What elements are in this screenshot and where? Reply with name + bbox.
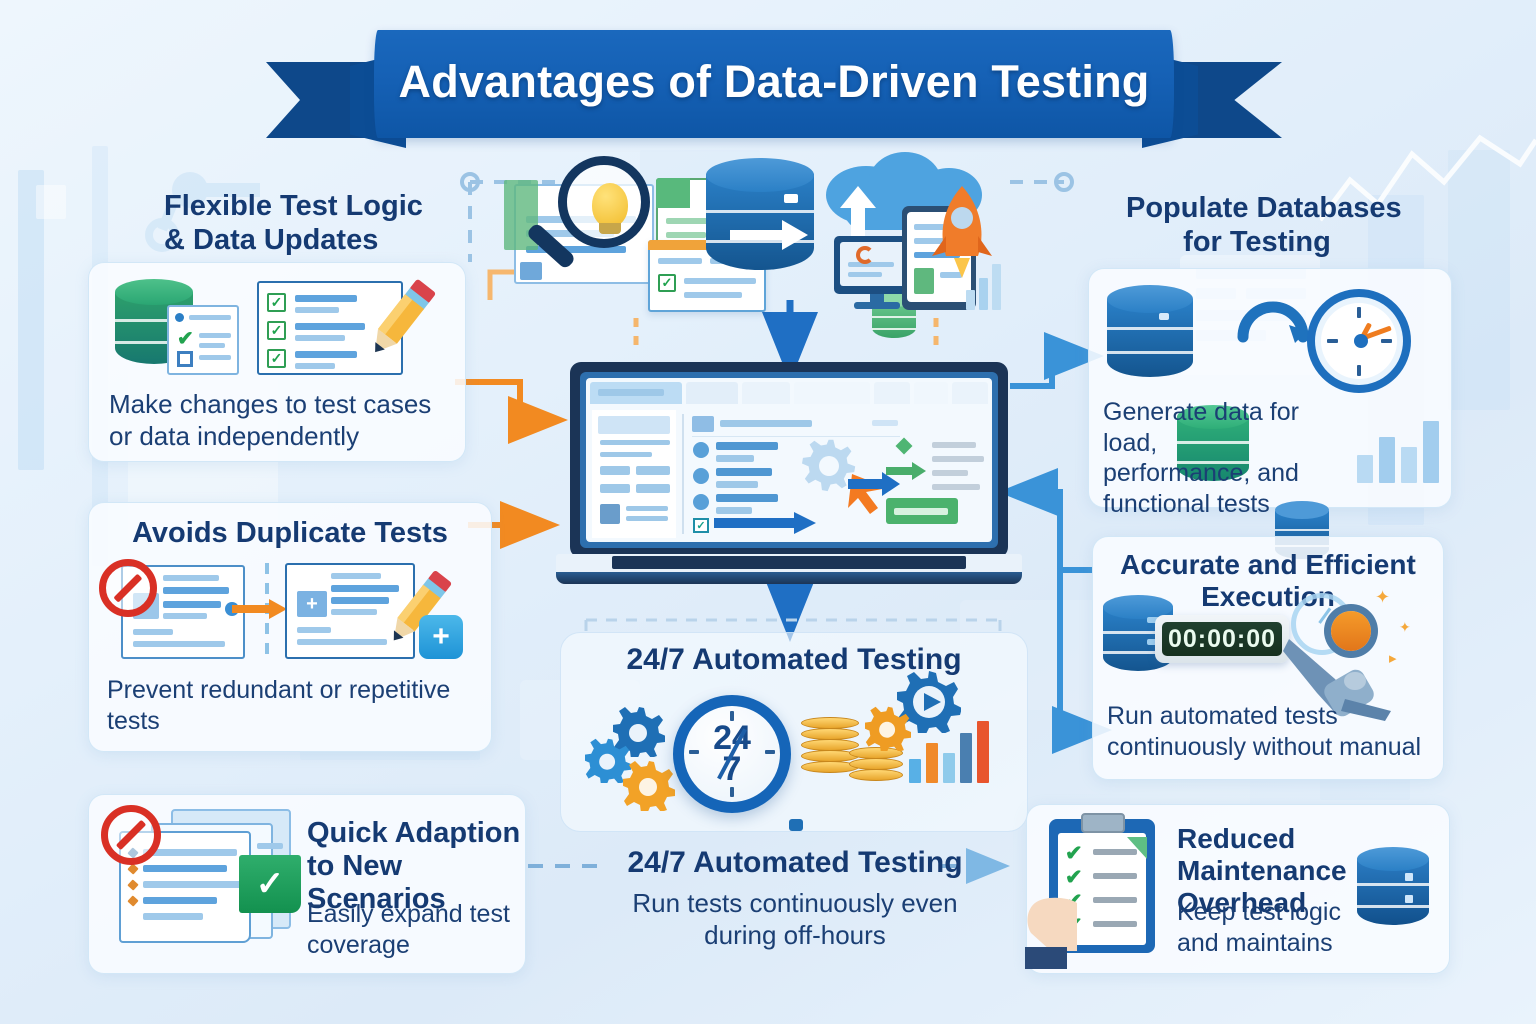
card-body-accurate-efficient: Run automated tests continuously without… — [1107, 701, 1447, 762]
prohibition-icon — [101, 805, 161, 865]
pencil-icon — [359, 273, 443, 365]
page-title: Advantages of Data-Driven Testing — [399, 56, 1150, 108]
card-heading-flexible-test-logic: Flexible Test Logic & Data Updates — [164, 190, 464, 257]
document-card-icon: ✔ — [167, 305, 239, 375]
sparkle-icon: ✦ — [1399, 619, 1411, 636]
prohibition-icon — [99, 559, 157, 617]
card-body-populate-databases: Generate data for load, performance, and… — [1103, 397, 1353, 519]
card-flexible-test-logic[interactable]: ✔ ✓ ✓ ✓ Make changes to test cases or da… — [88, 262, 466, 462]
card-heading-avoids-duplicate-tests: Avoids Duplicate Tests — [89, 517, 491, 550]
add-plus-icon: + — [419, 615, 463, 659]
bar-chart-icon — [966, 254, 1001, 310]
database-icon — [1107, 285, 1193, 383]
magnifier-lightbulb-icon — [558, 156, 650, 248]
card-body-avoids-duplicate-tests: Prevent redundant or repetitive tests — [107, 675, 483, 736]
laptop-illustration: ✓ — [556, 362, 1022, 598]
card-populate-databases[interactable]: Generate data for load, performance, and… — [1088, 268, 1452, 508]
refresh-arc-icon — [1237, 297, 1309, 343]
card-24-7-automated-testing[interactable]: 24/7 Automated Testing 24 7 — [560, 632, 1028, 832]
hand-icon — [1025, 873, 1091, 969]
top-illustration-cluster: ✓ — [496, 150, 1008, 310]
card-body-reduced-maintenance: Keep test logic and maintains — [1177, 897, 1341, 958]
gear-icon — [623, 759, 675, 811]
bar-chart-icon — [1357, 419, 1439, 483]
bar-chart-icon — [909, 721, 989, 783]
card-body-flexible-test-logic: Make changes to test cases or data indep… — [109, 389, 453, 452]
connector-node — [789, 819, 803, 831]
card-body-quick-adaption: Easily expand test coverage — [307, 899, 510, 960]
footer-body: Run tests continuously even during off-h… — [560, 888, 1030, 951]
timer-display-icon: 00:00:00 — [1155, 615, 1289, 663]
gear-icon — [865, 705, 911, 751]
sparkle-icon: ▸ — [1389, 649, 1397, 667]
footer-24-7-automated-testing: 24/7 Automated Testing Run tests continu… — [560, 846, 1030, 952]
arrow-right-icon — [225, 599, 287, 619]
banner-body: Advantages of Data-Driven Testing — [374, 30, 1174, 138]
banner: Advantages of Data-Driven Testing — [266, 26, 1282, 148]
green-check-icon: ✓ — [239, 855, 301, 913]
card-reduced-maintenance[interactable]: ✔ ✔ ✔ ✔ Reduced Maintenance Overhead Kee… — [1026, 804, 1450, 974]
card-heading-populate-databases: Populate Databases for Testing — [1126, 192, 1456, 259]
card-quick-adaption[interactable]: ✓ Quick Adaption to New Scenarios Easily… — [88, 794, 526, 974]
clock-247-icon: 24 7 — [673, 695, 791, 813]
card-avoids-duplicate-tests[interactable]: Avoids Duplicate Tests + — [88, 502, 492, 752]
card-accurate-efficient-execution[interactable]: Accurate and Efficient Execution 00:00:0… — [1092, 536, 1444, 780]
timer-value: 00:00:00 — [1162, 622, 1282, 656]
sparkle-icon: ✦ — [1375, 587, 1390, 608]
footer-heading: 24/7 Automated Testing — [560, 846, 1030, 880]
